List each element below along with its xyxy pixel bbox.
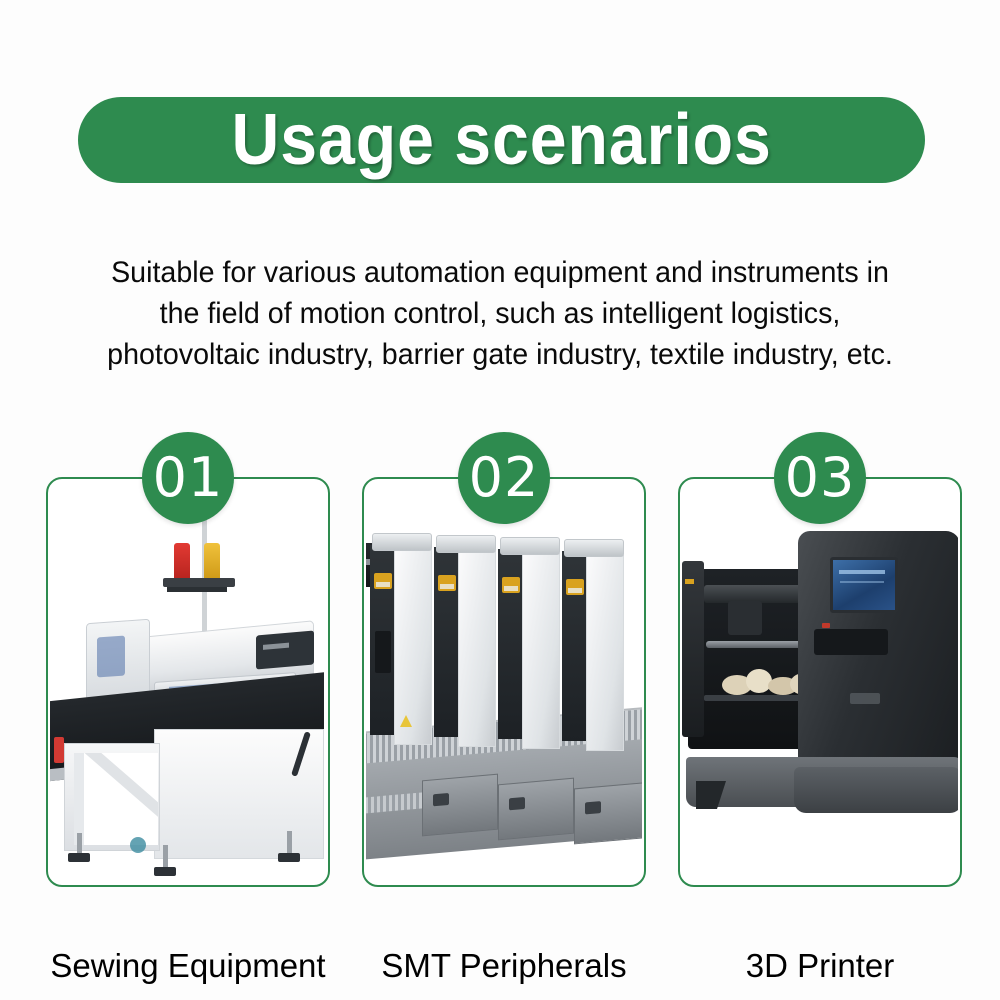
base-drawer-1 bbox=[422, 774, 498, 837]
card-badge-number: 02 bbox=[469, 451, 540, 505]
frame-brace bbox=[74, 753, 158, 845]
printer-plinth-front bbox=[794, 767, 958, 813]
thread-spool-yellow bbox=[204, 543, 220, 579]
scenario-card-smt-peripherals[interactable]: 02 bbox=[362, 477, 646, 887]
tower-label bbox=[502, 577, 520, 593]
card-badge-01: 01 bbox=[142, 432, 234, 524]
spool-plate bbox=[163, 578, 235, 587]
card-caption: Sewing Equipment bbox=[26, 947, 350, 985]
tower-label bbox=[374, 573, 392, 589]
leg-1 bbox=[77, 833, 82, 855]
red-tag bbox=[54, 737, 64, 763]
control-box bbox=[256, 630, 314, 669]
printed-part bbox=[746, 669, 772, 693]
page-title-banner: Usage scenarios bbox=[78, 97, 925, 183]
card-frame bbox=[46, 477, 330, 887]
intro-paragraph: Suitable for various automation equipmen… bbox=[26, 252, 974, 375]
material-bay bbox=[814, 629, 888, 655]
tower-label bbox=[438, 575, 456, 591]
usage-scenarios-page: Usage scenarios Suitable for various aut… bbox=[0, 0, 1000, 1000]
tower-label bbox=[566, 579, 584, 595]
tower-unit-3 bbox=[498, 549, 556, 753]
card-badge-number: 01 bbox=[153, 451, 224, 505]
tower-cap bbox=[500, 537, 560, 555]
adjustable-foot-2 bbox=[154, 867, 176, 876]
tower-control-panel bbox=[375, 631, 391, 673]
lcd-screen bbox=[830, 557, 898, 613]
print-head bbox=[728, 601, 762, 635]
card-caption: 3D Printer bbox=[678, 947, 962, 985]
scenario-card-sewing-equipment[interactable]: 01 bbox=[46, 477, 330, 887]
card-badge-02: 02 bbox=[458, 432, 550, 524]
3d-printer-photo bbox=[682, 481, 958, 883]
chamber-door bbox=[682, 561, 704, 737]
tower-cap bbox=[436, 535, 496, 553]
adjustable-foot-3 bbox=[278, 853, 300, 862]
card-frame bbox=[678, 477, 962, 887]
base-drawer-2 bbox=[498, 778, 574, 841]
tower-light-panel bbox=[522, 553, 560, 749]
brand-logo bbox=[850, 693, 880, 704]
caster-wheel bbox=[130, 837, 146, 853]
tower-light-panel bbox=[586, 555, 624, 751]
card-badge-03: 03 bbox=[774, 432, 866, 524]
tower-cap bbox=[372, 533, 432, 551]
page-title: Usage scenarios bbox=[231, 104, 771, 176]
intro-line-2: the field of motion control, such as int… bbox=[40, 293, 960, 334]
tower-unit-2 bbox=[434, 547, 492, 751]
leg-2 bbox=[163, 845, 168, 869]
sewing-machine-photo bbox=[50, 481, 326, 883]
thread-spool-red bbox=[174, 543, 190, 579]
card-badge-number: 03 bbox=[785, 451, 856, 505]
intro-line-3: photovoltaic industry, barrier gate indu… bbox=[40, 334, 960, 375]
intro-line-1: Suitable for various automation equipmen… bbox=[40, 252, 960, 293]
tower-light-panel bbox=[458, 551, 496, 747]
scenario-cards: 01 bbox=[0, 432, 1000, 932]
leg-3 bbox=[287, 831, 292, 855]
card-caption: SMT Peripherals bbox=[352, 947, 656, 985]
smt-line-photo bbox=[366, 481, 642, 883]
scenario-card-3d-printer[interactable]: 03 bbox=[678, 477, 962, 887]
tower-unit-4 bbox=[562, 551, 620, 755]
tower-light-panel bbox=[394, 549, 432, 745]
base-drawer-3 bbox=[574, 782, 642, 845]
tower-cap bbox=[564, 539, 624, 557]
card-frame bbox=[362, 477, 646, 887]
adjustable-foot-1 bbox=[68, 853, 90, 862]
tower-unit-1 bbox=[370, 545, 428, 749]
